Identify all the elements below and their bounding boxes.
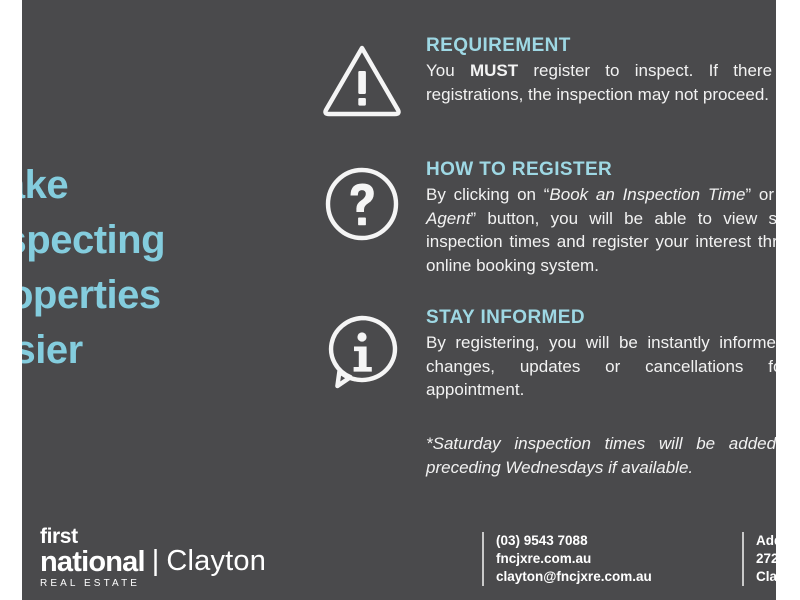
section-body-stay-informed: By registering, you will be instantly in…	[426, 331, 776, 402]
logo-middle-row: national | Clayton	[40, 547, 266, 577]
section-title-requirement: REQUIREMENT	[426, 34, 776, 58]
logo-word-first: first	[40, 526, 266, 547]
right-page-edge	[776, 0, 800, 600]
left-page-edge	[0, 0, 22, 600]
headline-line-1: Make	[22, 158, 230, 213]
info-speech-bubble-icon	[320, 310, 404, 394]
address-line-2: Clayton VIC 3168	[756, 568, 776, 586]
logo-office-name: Clayton	[166, 547, 266, 577]
footnote-text: *Saturday inspection times will be added…	[426, 432, 776, 480]
contact-phone[interactable]: (03) 9543 7088	[496, 532, 652, 550]
contact-website[interactable]: fncjxre.com.au	[496, 550, 652, 568]
poster-panel: Make inspecting properties easier	[22, 0, 776, 600]
warning-triangle-icon	[320, 38, 404, 122]
headline-line-2: inspecting	[22, 213, 230, 268]
office-address: Address: 272 Clayton Road Clayton VIC 31…	[742, 532, 776, 586]
page-title: Make inspecting properties easier	[22, 158, 230, 378]
info-sections: REQUIREMENT You MUST register to inspect…	[320, 34, 776, 480]
headline-line-3: properties	[22, 268, 230, 323]
contact-email[interactable]: clayton@fncjxre.com.au	[496, 568, 652, 586]
logo-tagline: REAL ESTATE	[40, 579, 266, 589]
poster-page: Make inspecting properties easier	[0, 0, 800, 600]
address-line-1: 272 Clayton Road	[756, 550, 776, 568]
contact-details: (03) 9543 7088 fncjxre.com.au clayton@fn…	[482, 532, 652, 586]
section-stay-informed: STAY INFORMED By registering, you will b…	[320, 306, 776, 410]
section-body-requirement: You MUST register to inspect. If there a…	[426, 59, 776, 106]
brand-logo: first national | Clayton REAL ESTATE	[40, 526, 266, 589]
poster-canvas: Make inspecting properties easier	[22, 0, 776, 600]
headline-line-4: easier	[22, 323, 230, 378]
section-requirement: REQUIREMENT You MUST register to inspect…	[320, 34, 776, 138]
question-mark-circle-icon	[320, 162, 404, 246]
section-how-to-register: HOW TO REGISTER By clicking on “Book an …	[320, 158, 776, 288]
section-body-how-to-register: By clicking on “Book an Inspection Time”…	[426, 183, 776, 277]
address-label: Address:	[756, 532, 776, 550]
footer: first national | Clayton REAL ESTATE (03…	[22, 508, 776, 600]
logo-word-national: national	[40, 548, 145, 577]
section-title-how-to-register: HOW TO REGISTER	[426, 158, 776, 182]
section-title-stay-informed: STAY INFORMED	[426, 306, 776, 330]
logo-divider: |	[152, 547, 160, 576]
